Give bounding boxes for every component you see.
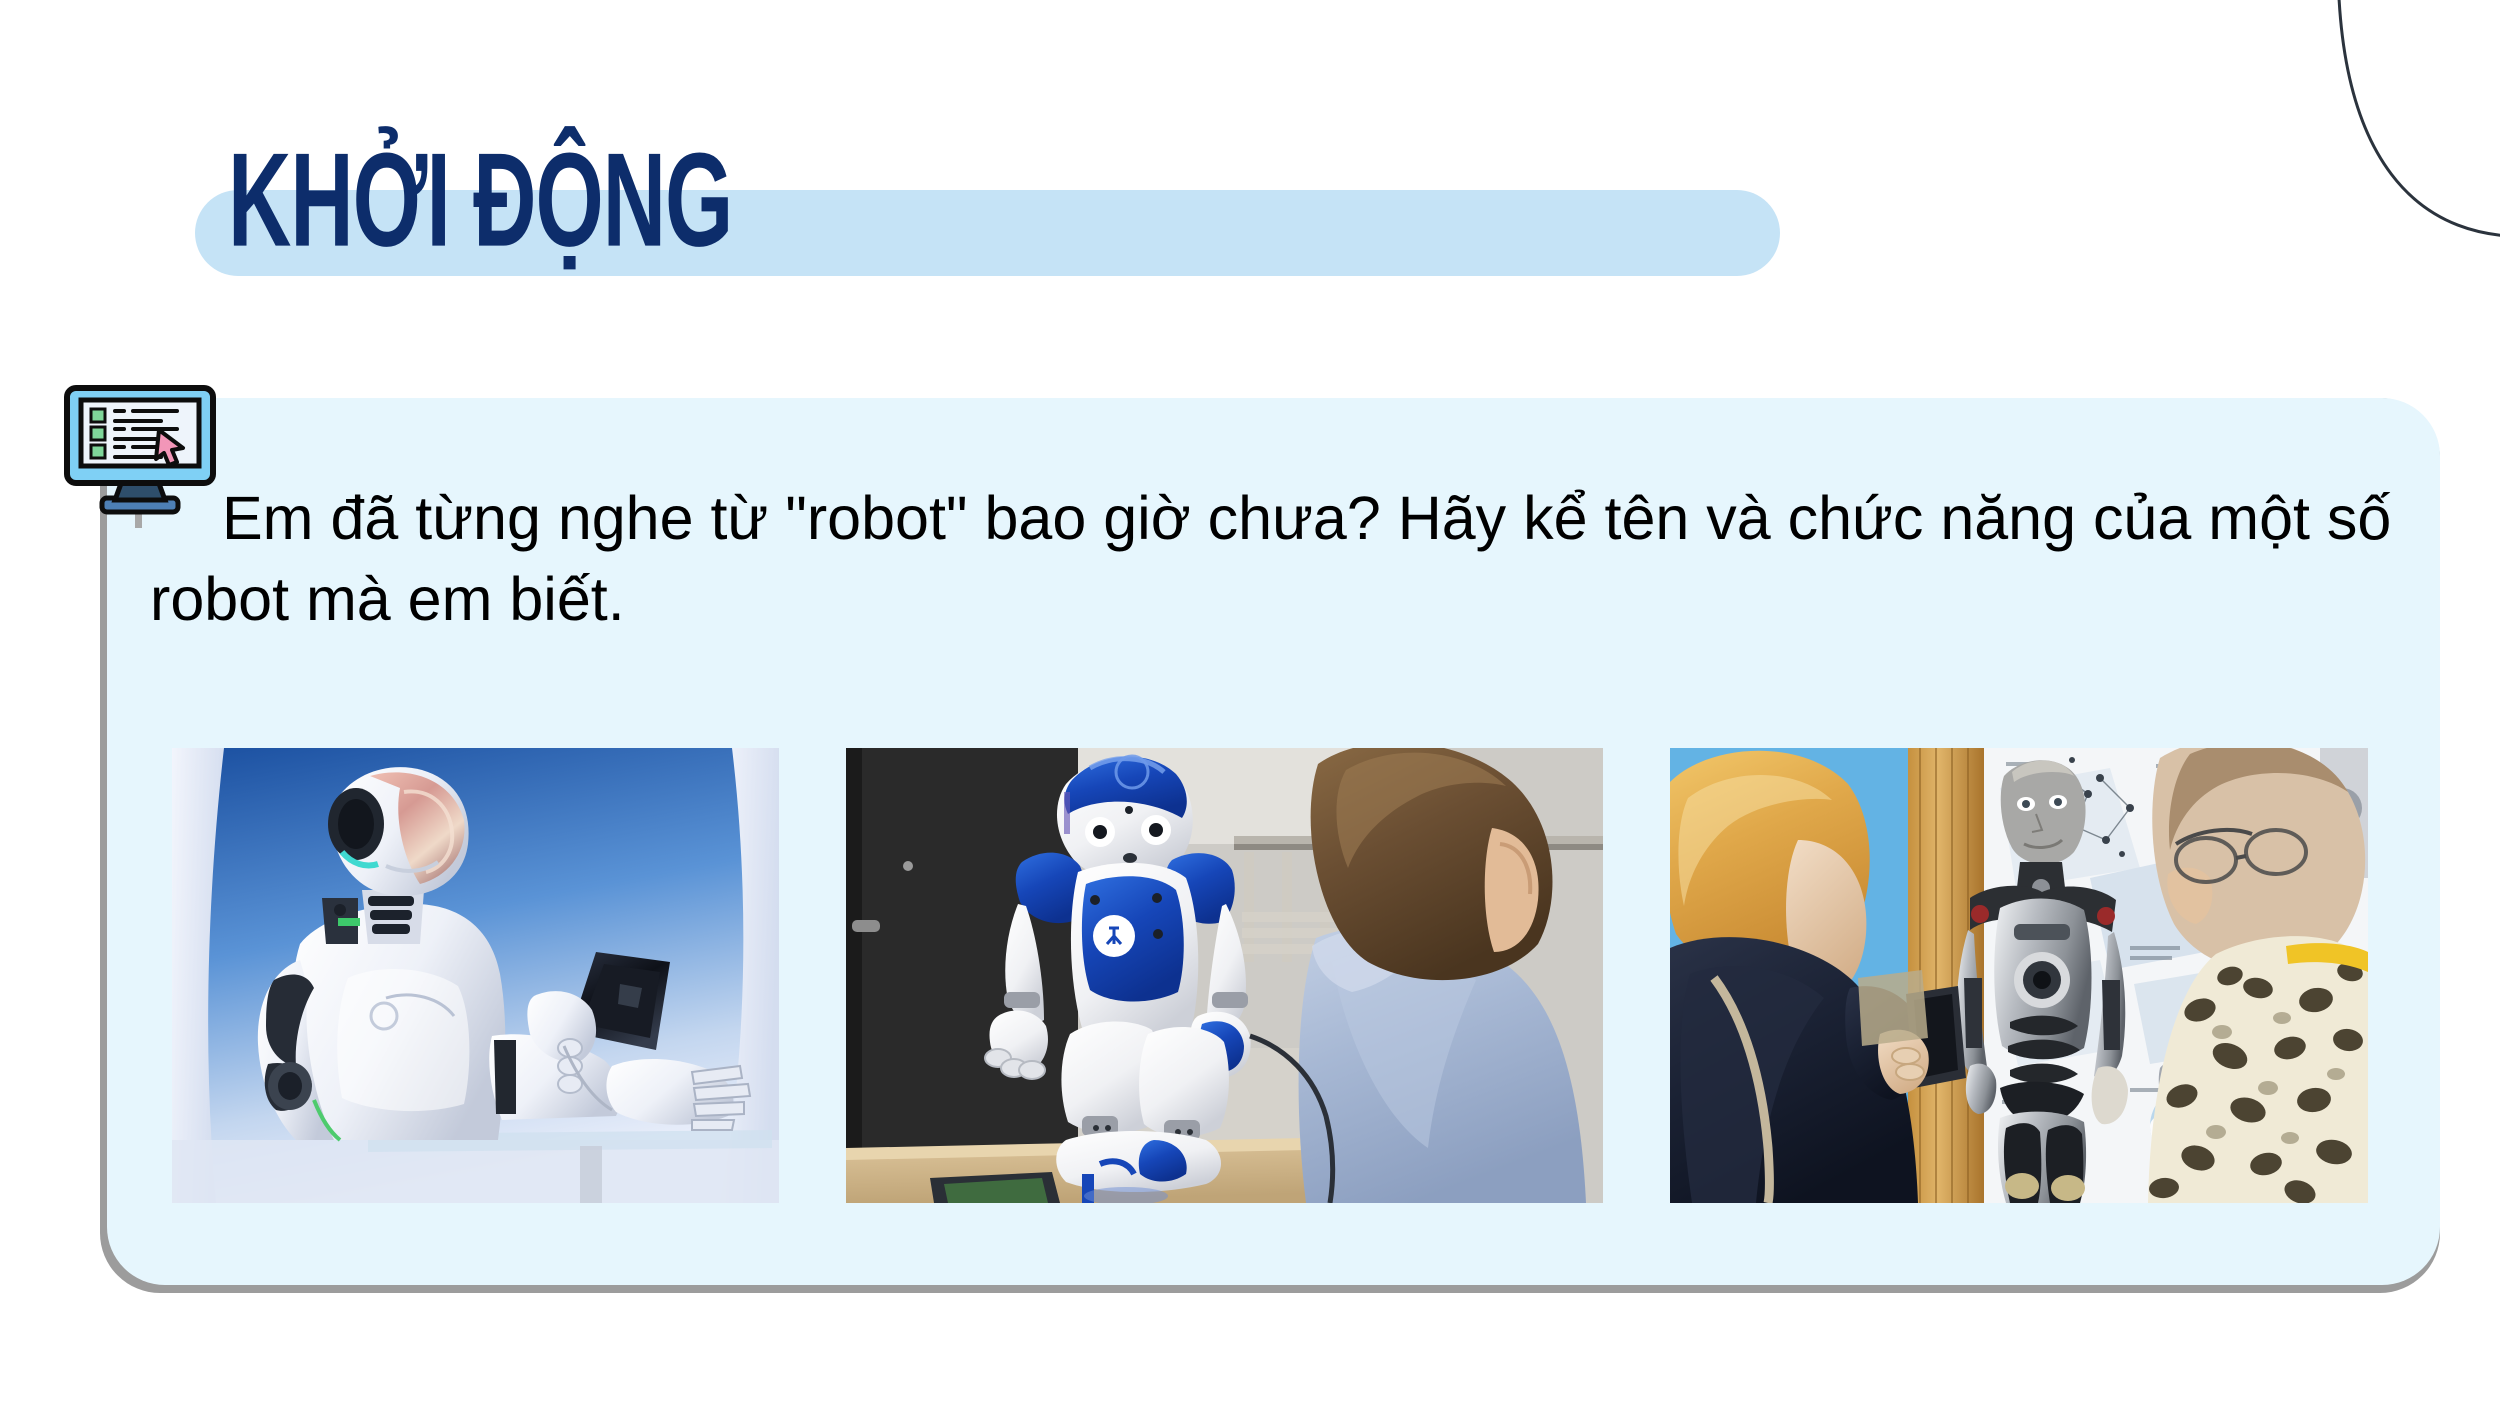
corner-arc-icon	[2080, 0, 2500, 420]
photo-ameca-exhibition	[1670, 748, 2368, 1203]
question-text: Em đã từng nghe từ "robot" bao giờ chưa?…	[150, 478, 2440, 639]
photo-nao-robot-student	[846, 748, 1603, 1203]
page-title: KHỞI ĐỘNG	[228, 134, 732, 267]
photo-strip	[172, 748, 2368, 1203]
page-title-block: KHỞI ĐỘNG	[195, 190, 1780, 276]
photo-android-tablet	[172, 748, 779, 1203]
